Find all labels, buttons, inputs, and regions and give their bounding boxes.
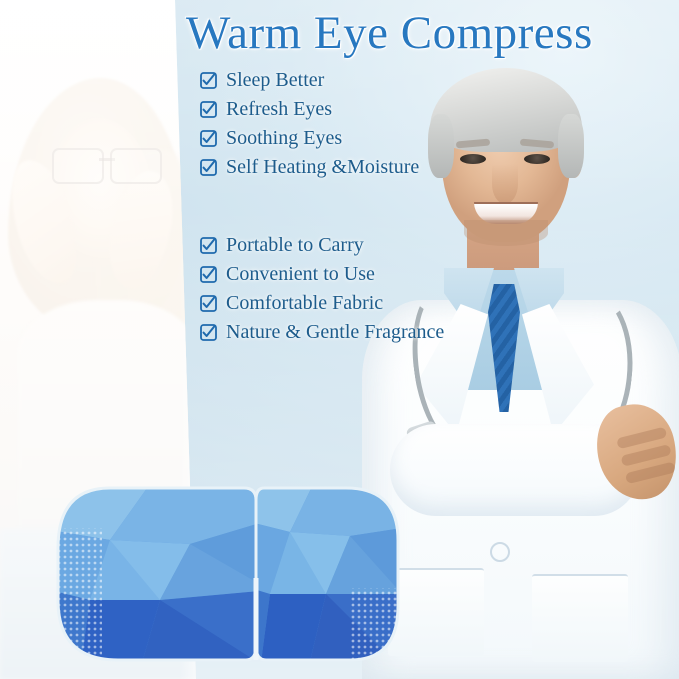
product-eye-mask bbox=[50, 470, 402, 670]
mask-lobe-left bbox=[50, 470, 270, 670]
list-item: Convenient to Use bbox=[200, 260, 500, 289]
checkbox-checked-icon bbox=[200, 266, 217, 283]
feature-label: Refresh Eyes bbox=[226, 98, 332, 121]
checkbox-checked-icon bbox=[200, 237, 217, 254]
list-item: Refresh Eyes bbox=[200, 95, 500, 124]
feature-label: Nature & Gentle Fragrance bbox=[226, 321, 444, 344]
list-item: Portable to Carry bbox=[200, 231, 500, 260]
list-item: Soothing Eyes bbox=[200, 124, 500, 153]
list-item: Comfortable Fabric bbox=[200, 289, 500, 318]
page-title: Warm Eye Compress bbox=[186, 8, 666, 60]
feature-label: Self Heating &Moisture bbox=[226, 156, 419, 179]
checkbox-checked-icon bbox=[200, 159, 217, 176]
feature-label: Comfortable Fabric bbox=[226, 292, 383, 315]
feature-label: Portable to Carry bbox=[226, 234, 364, 257]
finger-line-3 bbox=[625, 461, 676, 484]
checkbox-checked-icon bbox=[200, 72, 217, 89]
feature-label: Soothing Eyes bbox=[226, 127, 342, 150]
list-item: Sleep Better bbox=[200, 66, 500, 95]
list-item: Self Heating &Moisture bbox=[200, 153, 500, 182]
coat-button bbox=[490, 542, 510, 562]
mask-lobe-right bbox=[250, 470, 402, 670]
checkbox-checked-icon bbox=[200, 101, 217, 118]
feature-group-benefits: Sleep Better Refresh Eyes Soothing Eyes … bbox=[200, 66, 500, 182]
feature-label: Convenient to Use bbox=[226, 263, 375, 286]
feature-label: Sleep Better bbox=[226, 69, 324, 92]
checkbox-checked-icon bbox=[200, 130, 217, 147]
doctor-eye-right bbox=[524, 154, 550, 164]
doctor-hair-side-right bbox=[558, 114, 584, 178]
coat-pocket-right bbox=[532, 574, 628, 662]
product-poster: Warm Eye Compress Sleep Better Refresh E… bbox=[0, 0, 679, 679]
checkbox-checked-icon bbox=[200, 324, 217, 341]
coat-pocket-left bbox=[388, 568, 484, 656]
feature-group-convenience: Portable to Carry Convenient to Use Comf… bbox=[200, 231, 500, 347]
list-item: Nature & Gentle Fragrance bbox=[200, 318, 500, 347]
feature-lists: Sleep Better Refresh Eyes Soothing Eyes … bbox=[200, 66, 500, 347]
checkbox-checked-icon bbox=[200, 295, 217, 312]
